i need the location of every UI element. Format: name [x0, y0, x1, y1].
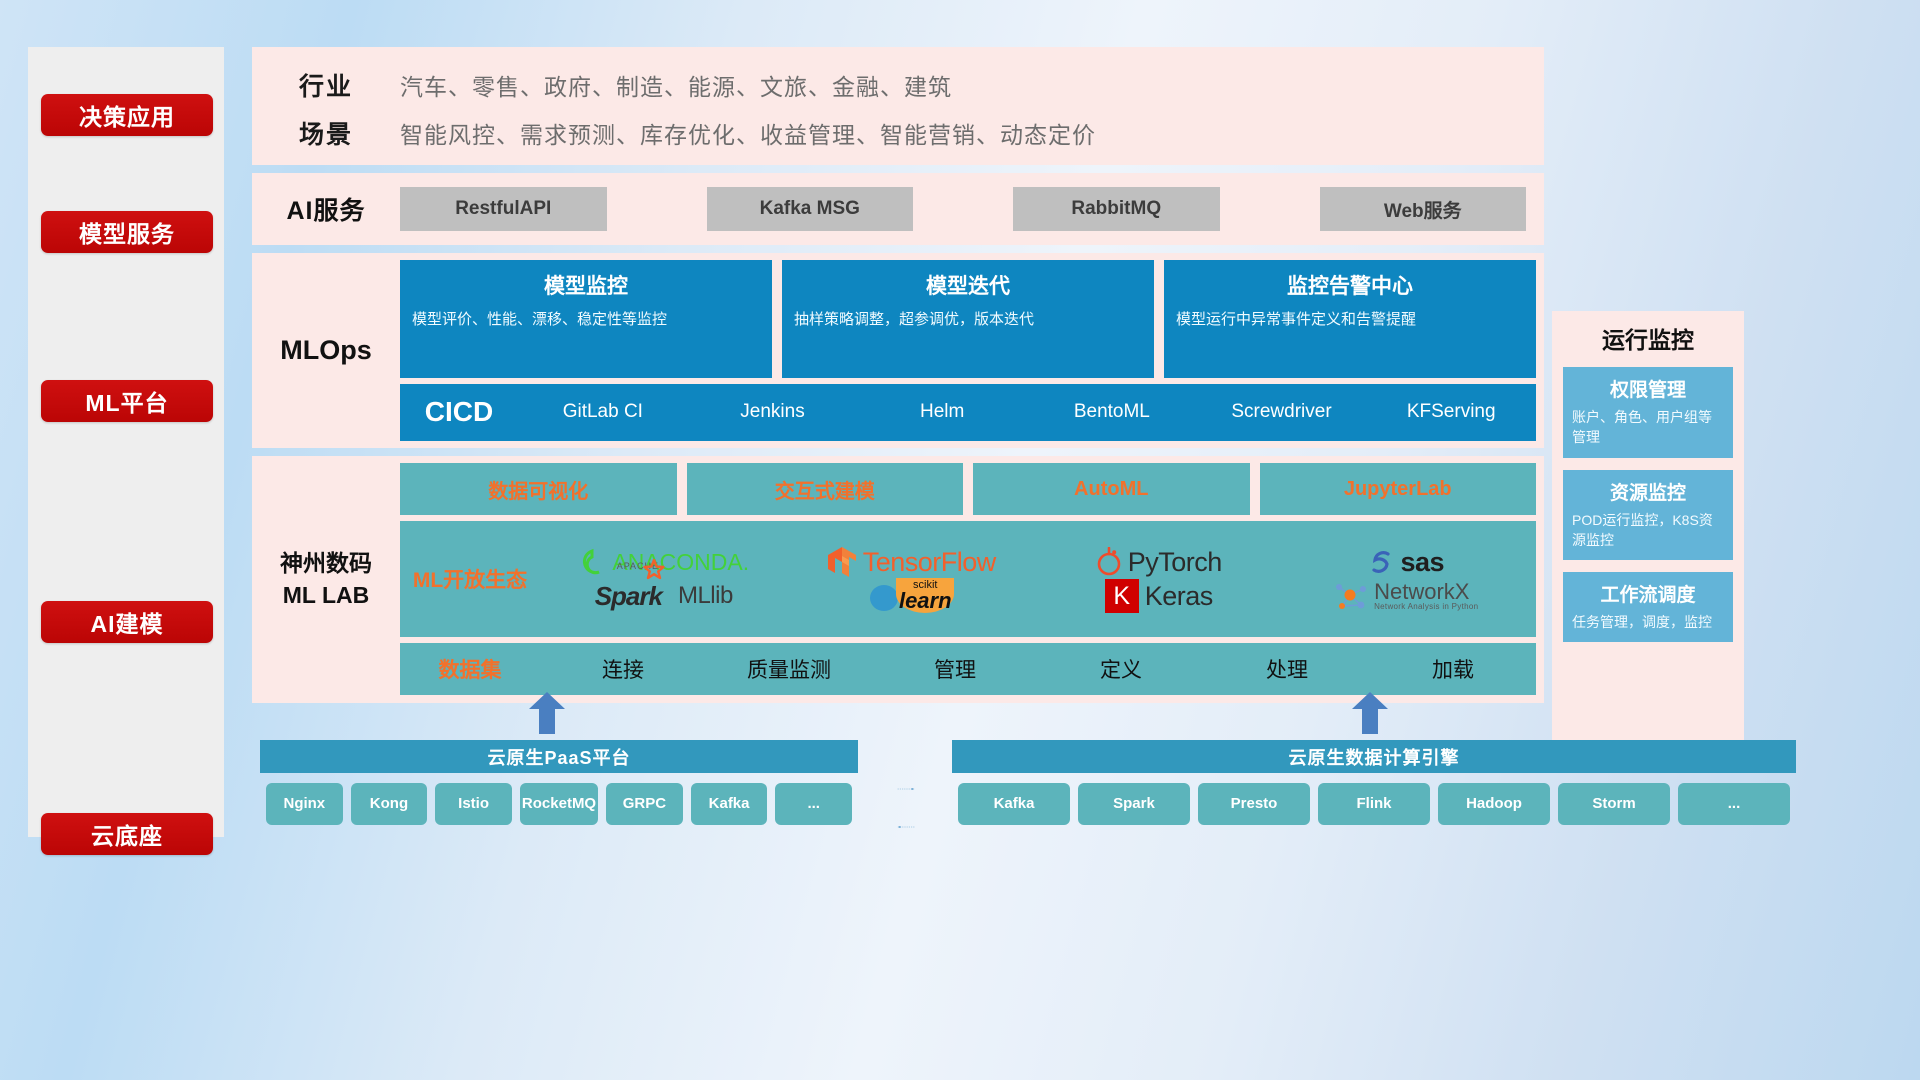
- up-arrow-compute-icon: [1352, 692, 1388, 734]
- networkx-tagline: Network Analysis in Python: [1374, 603, 1478, 611]
- lab-tool-automl[interactable]: AutoML: [973, 463, 1250, 515]
- layer-chip-ai-modeling[interactable]: AI建模: [41, 601, 213, 643]
- cicd-item-bentoml[interactable]: BentoML: [1027, 399, 1197, 425]
- layer-chip-cloud-base[interactable]: 云底座: [41, 813, 213, 855]
- cloud-compute-group: 云原生数据计算引擎 Kafka Spark Presto Flink Hadoo…: [952, 740, 1796, 833]
- cloud-base-section: 云原生PaaS平台 Nginx Kong Istio RocketMQ GRPC…: [252, 740, 1796, 850]
- decision-app-band: 行业 汽车、零售、政府、制造、能源、文旅、金融、建筑 场景 智能风控、需求预测、…: [252, 47, 1544, 165]
- paas-chip-istio[interactable]: Istio: [435, 783, 512, 825]
- ml-lab-content: 数据可视化 交互式建模 AutoML JupyterLab ML开放生态 ANA…: [400, 456, 1544, 703]
- lab-tool-interactive-modeling[interactable]: 交互式建模: [687, 463, 964, 515]
- paas-chip-grpc[interactable]: GRPC: [606, 783, 683, 825]
- card-title: 模型监控: [412, 270, 760, 300]
- networkx-wordmark: NetworkX: [1374, 581, 1478, 603]
- industry-key: 行业: [252, 67, 400, 103]
- cicd-bar: CICD GitLab CI Jenkins Helm BentoML Scre…: [400, 384, 1536, 441]
- compute-chips: Kafka Spark Presto Flink Hadoop Storm ..…: [952, 773, 1796, 833]
- monitoring-card-resource[interactable]: 资源监控 POD运行监控，K8S资源监控: [1563, 470, 1733, 561]
- ml-open-ecosystem: ML开放生态 ANACONDA.: [400, 521, 1536, 637]
- networkx-logo: NetworkX Network Analysis in Python: [1334, 580, 1478, 612]
- card-desc: 账户、角色、用户组等管理: [1572, 407, 1724, 448]
- keras-wordmark: Keras: [1145, 581, 1213, 612]
- scenario-key: 场景: [252, 115, 400, 151]
- card-title: 监控告警中心: [1176, 270, 1524, 300]
- spark-star-icon: [643, 559, 665, 581]
- mlops-card-alert-center[interactable]: 监控告警中心 模型运行中异常事件定义和告警提醒: [1164, 260, 1536, 378]
- sas-wordmark: sas: [1400, 547, 1444, 578]
- monitoring-card-permission[interactable]: 权限管理 账户、角色、用户组等管理: [1563, 367, 1733, 458]
- service-chip-restfulapi[interactable]: RestfulAPI: [400, 187, 607, 231]
- compute-chip-storm[interactable]: Storm: [1558, 783, 1670, 825]
- layer-chip-model-service[interactable]: 模型服务: [41, 211, 213, 253]
- dataset-item-quality-monitor[interactable]: 质量监测: [706, 654, 872, 684]
- cicd-item-jenkins[interactable]: Jenkins: [688, 399, 858, 425]
- layer-chip-label: 模型服务: [79, 215, 175, 249]
- layer-chip-ml-platform[interactable]: ML平台: [41, 380, 213, 422]
- compute-chip-flink[interactable]: Flink: [1318, 783, 1430, 825]
- dashed-arrow-left-icon: [864, 826, 948, 828]
- cicd-item-screwdriver[interactable]: Screwdriver: [1197, 399, 1367, 425]
- card-title: 权限管理: [1572, 375, 1724, 402]
- service-chip-kafka-msg[interactable]: Kafka MSG: [707, 187, 914, 231]
- cicd-item-helm[interactable]: Helm: [857, 399, 1027, 425]
- dataset-title: 数据集: [400, 654, 540, 684]
- mlops-card-model-iteration[interactable]: 模型迭代 抽样策略调整，超参调优，版本迭代: [782, 260, 1154, 378]
- card-desc: 模型评价、性能、漂移、稳定性等监控: [412, 309, 760, 331]
- sas-icon: [1368, 549, 1394, 575]
- card-desc: POD运行监控，K8S资源监控: [1572, 510, 1724, 551]
- lab-tool-jupyterlab[interactable]: JupyterLab: [1260, 463, 1537, 515]
- ai-service-label: AI服务: [252, 191, 400, 227]
- layer-chip-label: AI建模: [91, 605, 164, 639]
- scenario-value: 智能风控、需求预测、库存优化、收益管理、智能营销、动态定价: [400, 116, 1096, 150]
- sas-logo: sas: [1368, 547, 1444, 578]
- paas-chip-nginx[interactable]: Nginx: [266, 783, 343, 825]
- lab-tool-data-visualization[interactable]: 数据可视化: [400, 463, 677, 515]
- card-title: 工作流调度: [1572, 580, 1724, 607]
- pytorch-logo: PyTorch: [1096, 547, 1222, 578]
- cloud-paas-group: 云原生PaaS平台 Nginx Kong Istio RocketMQ GRPC…: [260, 740, 858, 833]
- layer-chip-label: 云底座: [91, 817, 163, 851]
- ml-lab-label: 神州数码 ML LAB: [252, 456, 400, 703]
- mlops-label: MLOps: [252, 253, 400, 448]
- card-desc: 抽样策略调整，超参调优，版本迭代: [794, 309, 1142, 331]
- dataset-item-connect[interactable]: 连接: [540, 654, 706, 684]
- paas-chip-kafka[interactable]: Kafka: [691, 783, 768, 825]
- paas-chip-rocketmq[interactable]: RocketMQ: [520, 783, 598, 825]
- layer-rail: 决策应用 模型服务 ML平台 AI建模 云底座: [28, 47, 224, 837]
- monitoring-title: 运行监控: [1563, 321, 1733, 355]
- paas-header: 云原生PaaS平台: [260, 740, 858, 773]
- up-arrow-paas-icon: [529, 692, 565, 734]
- card-desc: 任务管理，调度，监控: [1572, 612, 1724, 632]
- networkx-graph-icon: [1334, 580, 1368, 612]
- compute-chip-presto[interactable]: Presto: [1198, 783, 1310, 825]
- industry-value: 汽车、零售、政府、制造、能源、文旅、金融、建筑: [400, 68, 952, 102]
- ai-service-items: RestfulAPI Kafka MSG RabbitMQ Web服务: [400, 187, 1544, 231]
- keras-mark-icon: K: [1105, 579, 1139, 613]
- tensorflow-logo: TensorFlow: [827, 546, 996, 578]
- eco-logo-grid: ANACONDA. TensorFlow: [540, 545, 1536, 613]
- dataset-item-define[interactable]: 定义: [1038, 654, 1204, 684]
- dataset-item-load[interactable]: 加载: [1370, 654, 1536, 684]
- scenario-row: 场景 智能风控、需求预测、库存优化、收益管理、智能营销、动态定价: [252, 113, 1544, 153]
- architecture-stack: 行业 汽车、零售、政府、制造、能源、文旅、金融、建筑 场景 智能风控、需求预测、…: [252, 47, 1544, 711]
- mlops-card-model-monitoring[interactable]: 模型监控 模型评价、性能、漂移、稳定性等监控: [400, 260, 772, 378]
- layer-chip-label: ML平台: [85, 384, 168, 418]
- runtime-monitoring-panel: 运行监控 权限管理 账户、角色、用户组等管理 资源监控 POD运行监控，K8S资…: [1552, 311, 1744, 760]
- dashed-arrow-right-icon: [864, 788, 948, 790]
- paas-chip-more[interactable]: ...: [775, 783, 852, 825]
- ml-lab-label-line1: 神州数码: [280, 548, 372, 579]
- pytorch-icon: [1096, 547, 1122, 577]
- ml-lab-band: 神州数码 ML LAB 数据可视化 交互式建模 AutoML JupyterLa…: [252, 456, 1544, 703]
- eco-title: ML开放生态: [400, 564, 540, 594]
- layer-chip-label: 决策应用: [79, 98, 175, 132]
- service-chip-rabbitmq[interactable]: RabbitMQ: [1013, 187, 1220, 231]
- learn-word: learn: [894, 591, 956, 612]
- cicd-item-kfserving[interactable]: KFServing: [1366, 399, 1536, 425]
- spark-wordmark: Spark: [595, 581, 662, 612]
- cicd-item-gitlab-ci[interactable]: GitLab CI: [518, 399, 688, 425]
- mlops-content: 模型监控 模型评价、性能、漂移、稳定性等监控 模型迭代 抽样策略调整，超参调优，…: [400, 253, 1544, 448]
- cicd-title: CICD: [400, 396, 518, 428]
- dataset-item-process[interactable]: 处理: [1204, 654, 1370, 684]
- paas-chips: Nginx Kong Istio RocketMQ GRPC Kafka ...: [260, 773, 858, 833]
- card-title: 模型迭代: [794, 270, 1142, 300]
- compute-header: 云原生数据计算引擎: [952, 740, 1796, 773]
- compute-chip-kafka[interactable]: Kafka: [958, 783, 1070, 825]
- mlops-cards: 模型监控 模型评价、性能、漂移、稳定性等监控 模型迭代 抽样策略调整，超参调优，…: [400, 260, 1536, 378]
- anaconda-icon: [578, 548, 606, 576]
- layer-chip-decision-app[interactable]: 决策应用: [41, 94, 213, 136]
- card-desc: 模型运行中异常事件定义和告警提醒: [1176, 309, 1524, 331]
- tensorflow-wordmark: TensorFlow: [863, 547, 996, 578]
- keras-logo: K Keras: [1105, 579, 1213, 613]
- card-title: 资源监控: [1572, 478, 1724, 505]
- compute-chip-more[interactable]: ...: [1678, 783, 1790, 825]
- scikit-learn-logo: scikit learn: [866, 579, 956, 613]
- monitoring-card-workflow[interactable]: 工作流调度 任务管理，调度，监控: [1563, 572, 1733, 642]
- dataset-item-manage[interactable]: 管理: [872, 654, 1038, 684]
- tensorflow-icon: [827, 546, 857, 578]
- mlops-band: MLOps 模型监控 模型评价、性能、漂移、稳定性等监控 模型迭代 抽样策略调整…: [252, 253, 1544, 448]
- ml-lab-tools: 数据可视化 交互式建模 AutoML JupyterLab: [400, 463, 1536, 515]
- ai-service-band: AI服务 RestfulAPI Kafka MSG RabbitMQ Web服务: [252, 173, 1544, 245]
- industry-row: 行业 汽车、零售、政府、制造、能源、文旅、金融、建筑: [252, 65, 1544, 105]
- service-chip-web[interactable]: Web服务: [1320, 187, 1527, 231]
- mllib-wordmark: MLlib: [678, 582, 733, 610]
- spark-mllib-logo: APACHE Spark MLlib: [595, 581, 733, 612]
- dataset-bar: 数据集 连接 质量监测 管理 定义 处理 加载: [400, 643, 1536, 695]
- pytorch-wordmark: PyTorch: [1128, 547, 1222, 578]
- paas-chip-kong[interactable]: Kong: [351, 783, 428, 825]
- ml-lab-label-line2: ML LAB: [283, 580, 369, 611]
- compute-chip-hadoop[interactable]: Hadoop: [1438, 783, 1550, 825]
- compute-chip-spark[interactable]: Spark: [1078, 783, 1190, 825]
